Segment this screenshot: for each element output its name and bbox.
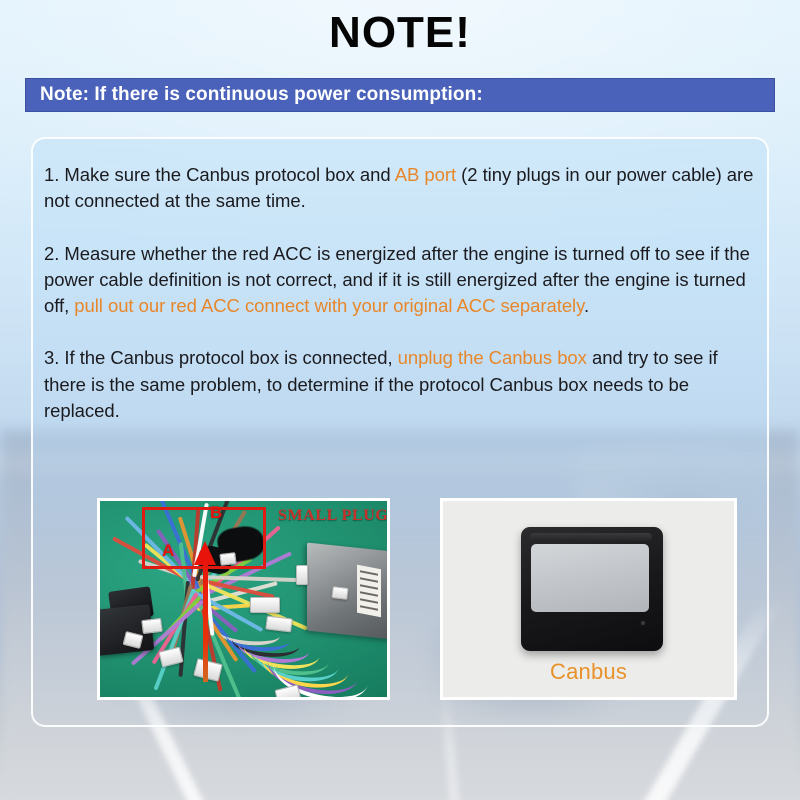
- canbus-device-face: [531, 544, 649, 612]
- note-banner: Note: If there is continuous power consu…: [25, 78, 775, 112]
- highlighted-phrase: pull out our red ACC connect with your o…: [74, 295, 584, 316]
- canbus-device: [521, 527, 663, 651]
- harness-connector: [250, 597, 280, 613]
- figure-row: A B SMALL PLUG Canbus: [97, 498, 737, 700]
- instruction-paragraph: 1. Make sure the Canbus protocol box and…: [44, 162, 760, 215]
- instruction-list: 1. Make sure the Canbus protocol box and…: [44, 162, 760, 424]
- page-title: NOTE!: [0, 8, 800, 59]
- canbus-photo: Canbus: [440, 498, 737, 700]
- paragraph-text: 3. If the Canbus protocol box is connect…: [44, 347, 398, 368]
- paragraph-text: 1. Make sure the Canbus protocol box and: [44, 164, 395, 185]
- harness-connector: [331, 586, 348, 600]
- harness-connector: [141, 618, 163, 634]
- annotation-small-plug-text: SMALL PLUG: [278, 507, 388, 525]
- harness-module-sticker: [357, 565, 381, 618]
- canbus-device-led: [641, 621, 645, 625]
- instruction-paragraph: 2. Measure whether the red ACC is energi…: [44, 241, 760, 320]
- instruction-paragraph: 3. If the Canbus protocol box is connect…: [44, 345, 760, 424]
- harness-photo: A B SMALL PLUG: [97, 498, 390, 700]
- note-banner-label: Note: If there is continuous power consu…: [40, 84, 483, 106]
- annotation-label-b: B: [210, 503, 222, 523]
- annotation-label-a: A: [162, 541, 174, 561]
- paragraph-text: .: [584, 295, 589, 316]
- note-page: NOTE! Note: If there is continuous power…: [0, 0, 800, 800]
- harness-connector: [296, 565, 308, 585]
- harness-module-box: [307, 542, 390, 639]
- annotation-arrow-stem: [203, 557, 208, 682]
- highlighted-phrase: unplug the Canbus box: [398, 347, 587, 368]
- highlighted-phrase: AB port: [395, 164, 456, 185]
- canbus-device-lip: [530, 533, 652, 541]
- canbus-caption: Canbus: [443, 659, 734, 685]
- harness-connector: [265, 615, 293, 632]
